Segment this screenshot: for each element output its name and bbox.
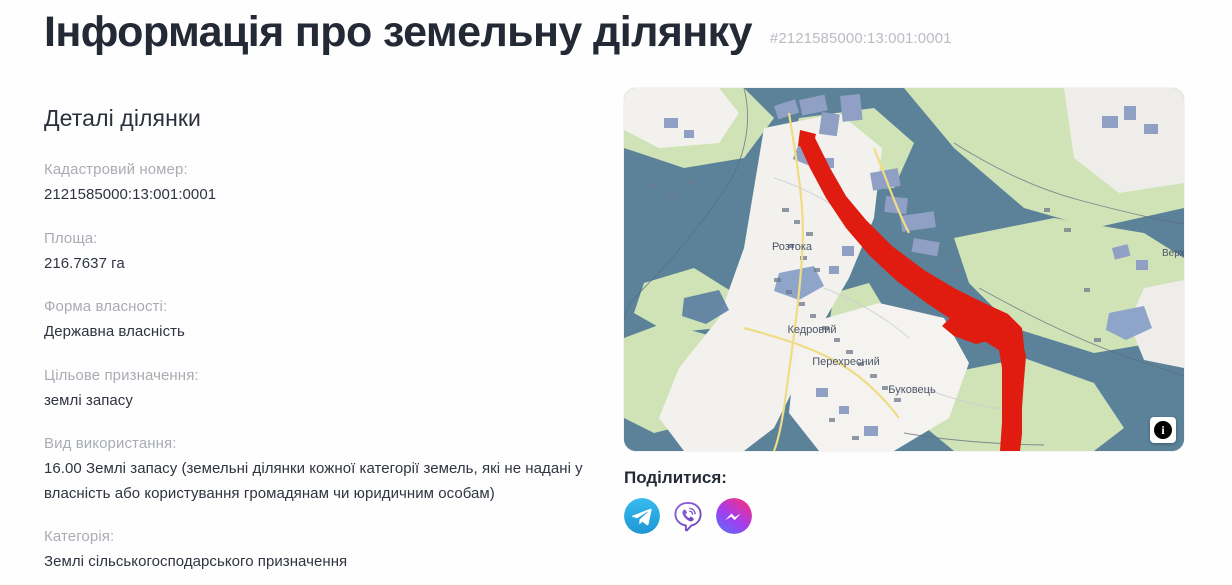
telegram-icon[interactable]	[624, 498, 660, 534]
field-value: землі запасу	[44, 389, 604, 413]
field-cadastral-number: Кадастровий номер: 2121585000:13:001:000…	[44, 158, 604, 208]
messenger-icon[interactable]	[716, 498, 752, 534]
field-value: 16.00 Землі запасу (земельні ділянки кож…	[44, 457, 589, 506]
cadastral-id-badge: #2121585000:13:001:0001	[770, 30, 952, 47]
map-label-verkh: Верх	[1162, 248, 1184, 259]
details-heading: Деталі ділянки	[44, 105, 604, 132]
parcel-map[interactable]: Розтока Кедровий Перехресний Буковець Ве…	[624, 88, 1184, 451]
map-label-kedrovyi: Кедровий	[787, 324, 836, 336]
share-title: Поділитися:	[624, 468, 752, 488]
viber-icon[interactable]	[670, 498, 706, 534]
info-icon: i	[1154, 421, 1172, 439]
field-label: Площа:	[44, 227, 604, 250]
field-label: Форма власності:	[44, 295, 604, 318]
share-icons	[624, 498, 752, 534]
parcel-info-page: Інформація про земельну ділянку #2121585…	[0, 0, 1232, 585]
field-label: Вид використання:	[44, 432, 604, 455]
field-value: 2121585000:13:001:0001	[44, 183, 604, 207]
field-use-type: Вид використання: 16.00 Землі запасу (зе…	[44, 432, 604, 506]
field-area: Площа: 216.7637 га	[44, 227, 604, 277]
map-info-button[interactable]: i	[1150, 417, 1176, 443]
parcel-details-section: Деталі ділянки Кадастровий номер: 212158…	[44, 105, 604, 585]
map-canvas[interactable]: Розтока Кедровий Перехресний Буковець Ве…	[624, 88, 1184, 451]
page-title: Інформація про земельну ділянку	[44, 8, 752, 56]
field-designated-purpose: Цільове призначення: землі запасу	[44, 364, 604, 414]
field-value: Землі сільськогосподарського призначення	[44, 550, 604, 574]
field-value: Державна власність	[44, 320, 604, 344]
share-section: Поділитися:	[624, 468, 752, 534]
field-label: Кадастровий номер:	[44, 158, 604, 181]
map-label-rozttoka: Розтока	[772, 241, 813, 253]
field-category: Категорія: Землі сільськогосподарського …	[44, 525, 604, 575]
page-header: Інформація про земельну ділянку #2121585…	[44, 8, 952, 56]
map-label-bukovets: Буковець	[888, 384, 936, 396]
field-value: 216.7637 га	[44, 252, 604, 276]
field-label: Категорія:	[44, 525, 604, 548]
map-label-perekhresnyi: Перехресний	[812, 356, 880, 368]
field-label: Цільове призначення:	[44, 364, 604, 387]
field-ownership-form: Форма власності: Державна власність	[44, 295, 604, 345]
